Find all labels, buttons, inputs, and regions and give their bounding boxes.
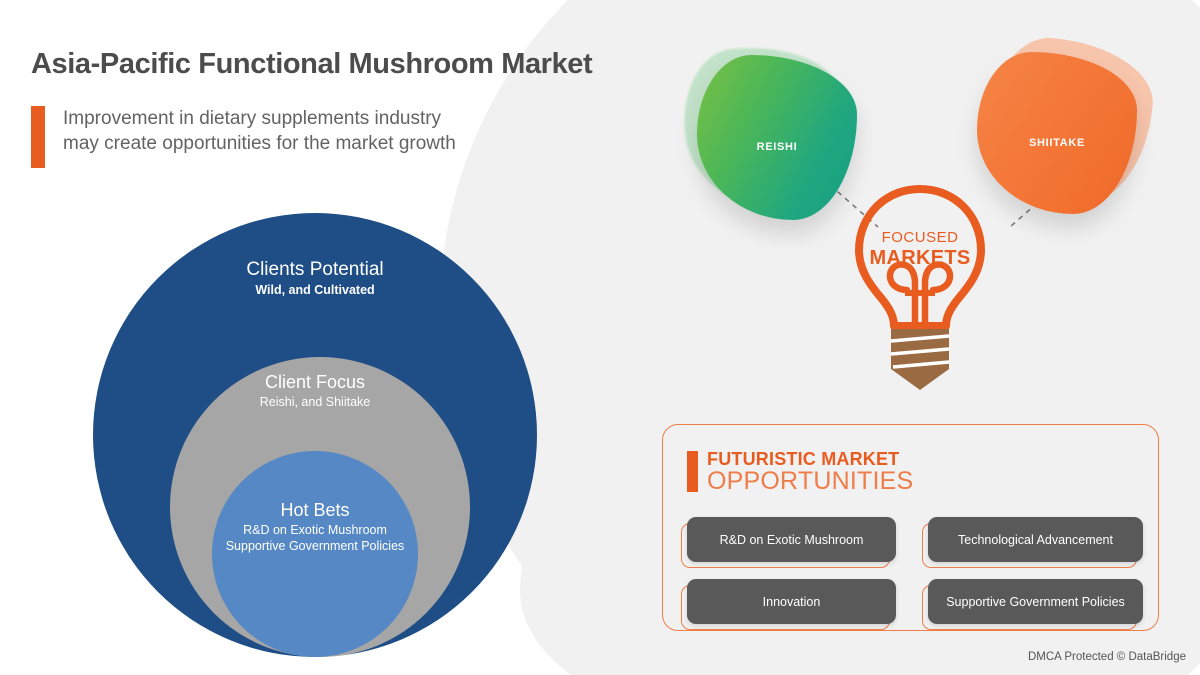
mushroom-blob-reishi: REISHI [697,55,857,220]
reishi-shape [697,55,857,220]
page-title: Asia-Pacific Functional Mushroom Market [31,48,592,81]
label-client-focus: Client Focus Reishi, and Shiitake [93,370,537,410]
mushroom-blob-shiitake: SHIITAKE [977,52,1137,214]
opportunity-chip-grid: R&D on Exotic Mushroom Technological Adv… [687,517,1137,641]
panel-title-line1: FUTURISTIC MARKET [707,449,913,469]
subtitle-text: Improvement in dietary supplements indus… [63,106,463,156]
chip-row-1: R&D on Exotic Mushroom Technological Adv… [687,517,1137,562]
panel-title-line2: OPPORTUNITIES [707,468,913,495]
subtitle-block: Improvement in dietary supplements indus… [31,106,463,168]
chip-label: R&D on Exotic Mushroom [687,517,896,562]
hot-bets-detail-line2: Supportive Government Policies [93,538,537,554]
hot-bets-heading: Hot Bets [93,498,537,522]
label-hot-bets: Hot Bets R&D on Exotic Mushroom Supporti… [93,498,537,554]
opportunity-chip-technological-advancement[interactable]: Technological Advancement [928,517,1143,562]
chip-label: Innovation [687,579,896,624]
reishi-label: REISHI [697,141,857,153]
subtitle-accent-bar [31,106,45,168]
lightbulb-icon: FOCUSED MARKETS [845,183,995,398]
hot-bets-detail-line1: R&D on Exotic Mushroom [93,522,537,538]
infographic-canvas: Asia-Pacific Functional Mushroom Market … [0,0,1200,675]
client-focus-heading: Client Focus [93,370,537,394]
shiitake-label: SHIITAKE [977,137,1137,149]
opportunity-chip-rd-exotic-mushroom[interactable]: R&D on Exotic Mushroom [687,517,896,562]
chip-label: Technological Advancement [928,517,1143,562]
opportunity-chip-supportive-government-policies[interactable]: Supportive Government Policies [928,579,1143,624]
futuristic-opportunities-panel: FUTURISTIC MARKET OPPORTUNITIES R&D on E… [662,424,1159,631]
clients-potential-detail: Wild, and Cultivated [93,282,537,298]
chip-row-2: Innovation Supportive Government Policie… [687,579,1137,624]
client-focus-detail: Reishi, and Shiitake [93,394,537,410]
circle-hot-bets [212,451,418,657]
concentric-circles-diagram: Clients Potential Wild, and Cultivated C… [93,213,537,657]
panel-accent-bar [687,451,698,492]
label-clients-potential: Clients Potential Wild, and Cultivated [93,258,537,298]
footer-copyright: DMCA Protected © DataBridge [1028,651,1186,663]
panel-header: FUTURISTIC MARKET OPPORTUNITIES [687,449,913,495]
clients-potential-heading: Clients Potential [93,258,537,282]
chip-label: Supportive Government Policies [928,579,1143,624]
shiitake-shape [977,52,1137,214]
bulb-glass-outline [859,189,981,326]
opportunity-chip-innovation[interactable]: Innovation [687,579,896,624]
